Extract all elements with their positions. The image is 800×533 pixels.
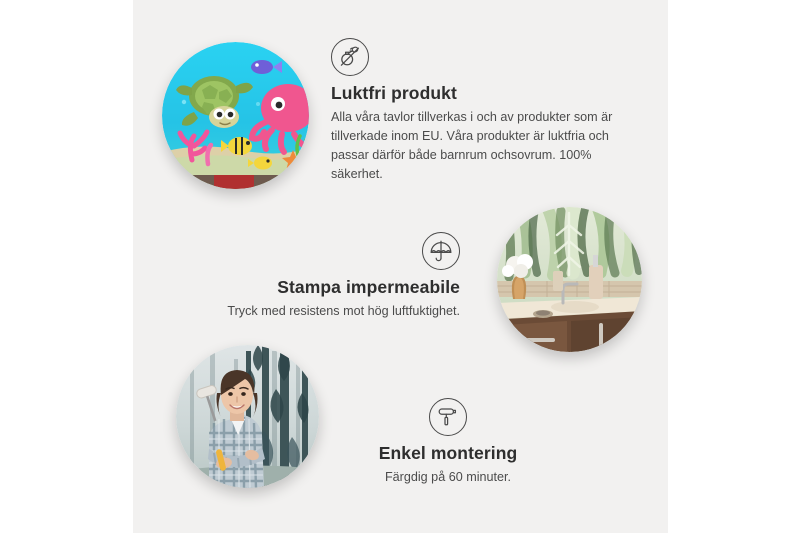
feature-easy-mounting: Enkel montering Färgdig på 60 minuter. [318, 398, 578, 487]
no-fragrance-icon [331, 38, 369, 76]
photo-sea-life [162, 42, 309, 189]
feature-title: Stampa impermeabile [178, 277, 460, 298]
photo-bathroom-botanical [497, 207, 642, 352]
feature-title: Enkel montering [318, 443, 578, 464]
feature-description: Tryck med resistens mot hög luftfuktighe… [178, 302, 460, 321]
umbrella-icon [422, 232, 460, 270]
promo-infographic: Luktfri produkt Alla våra tavlor tillver… [0, 0, 800, 533]
icon-row [331, 38, 623, 76]
feature-title: Luktfri produkt [331, 83, 623, 104]
feature-waterproof: Stampa impermeabile Tryck med resistens … [178, 232, 460, 321]
feature-description: Alla våra tavlor tillverkas i och av pro… [331, 108, 623, 185]
icon-row [178, 232, 460, 270]
photo-forest-installer [176, 345, 319, 488]
feature-odour-free: Luktfri produkt Alla våra tavlor tillver… [331, 38, 623, 185]
paint-roller-icon [429, 398, 467, 436]
feature-description: Färgdig på 60 minuter. [318, 468, 578, 487]
icon-row [318, 398, 578, 436]
